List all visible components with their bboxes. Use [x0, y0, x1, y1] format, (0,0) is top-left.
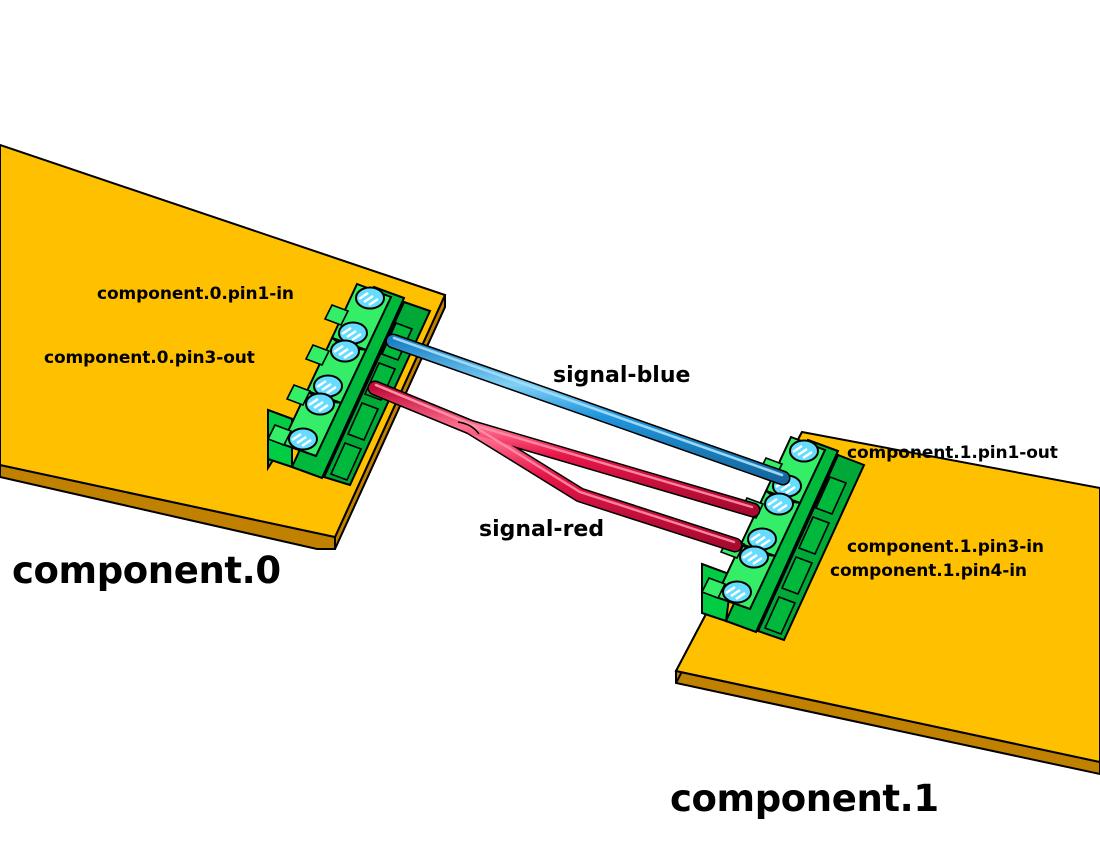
screw — [356, 288, 384, 309]
board-title-component-1: component.1 — [670, 777, 939, 820]
signal-label-blue: signal-blue — [553, 363, 690, 388]
board-title-component-0: component.0 — [12, 549, 281, 592]
diagram-canvas: component.0.pin1-in component.0.pin3-out… — [0, 0, 1100, 850]
pin-label-component-1-pin4-in: component.1.pin4-in — [830, 561, 1027, 581]
screw — [790, 441, 818, 462]
screw — [331, 341, 359, 362]
screw — [306, 394, 334, 415]
pin-label-component-1-pin3-in: component.1.pin3-in — [847, 537, 1044, 557]
pin-label-component-1-pin1-out: component.1.pin1-out — [847, 443, 1058, 463]
pin-label-component-0-pin1-in: component.0.pin1-in — [97, 284, 294, 304]
wiring-diagram-svg — [0, 0, 1100, 850]
screw — [765, 494, 793, 515]
signal-label-red: signal-red — [479, 517, 604, 542]
pin-label-component-0-pin3-out: component.0.pin3-out — [44, 348, 255, 368]
screw — [723, 582, 751, 603]
screw — [740, 547, 768, 568]
screw — [289, 429, 317, 450]
